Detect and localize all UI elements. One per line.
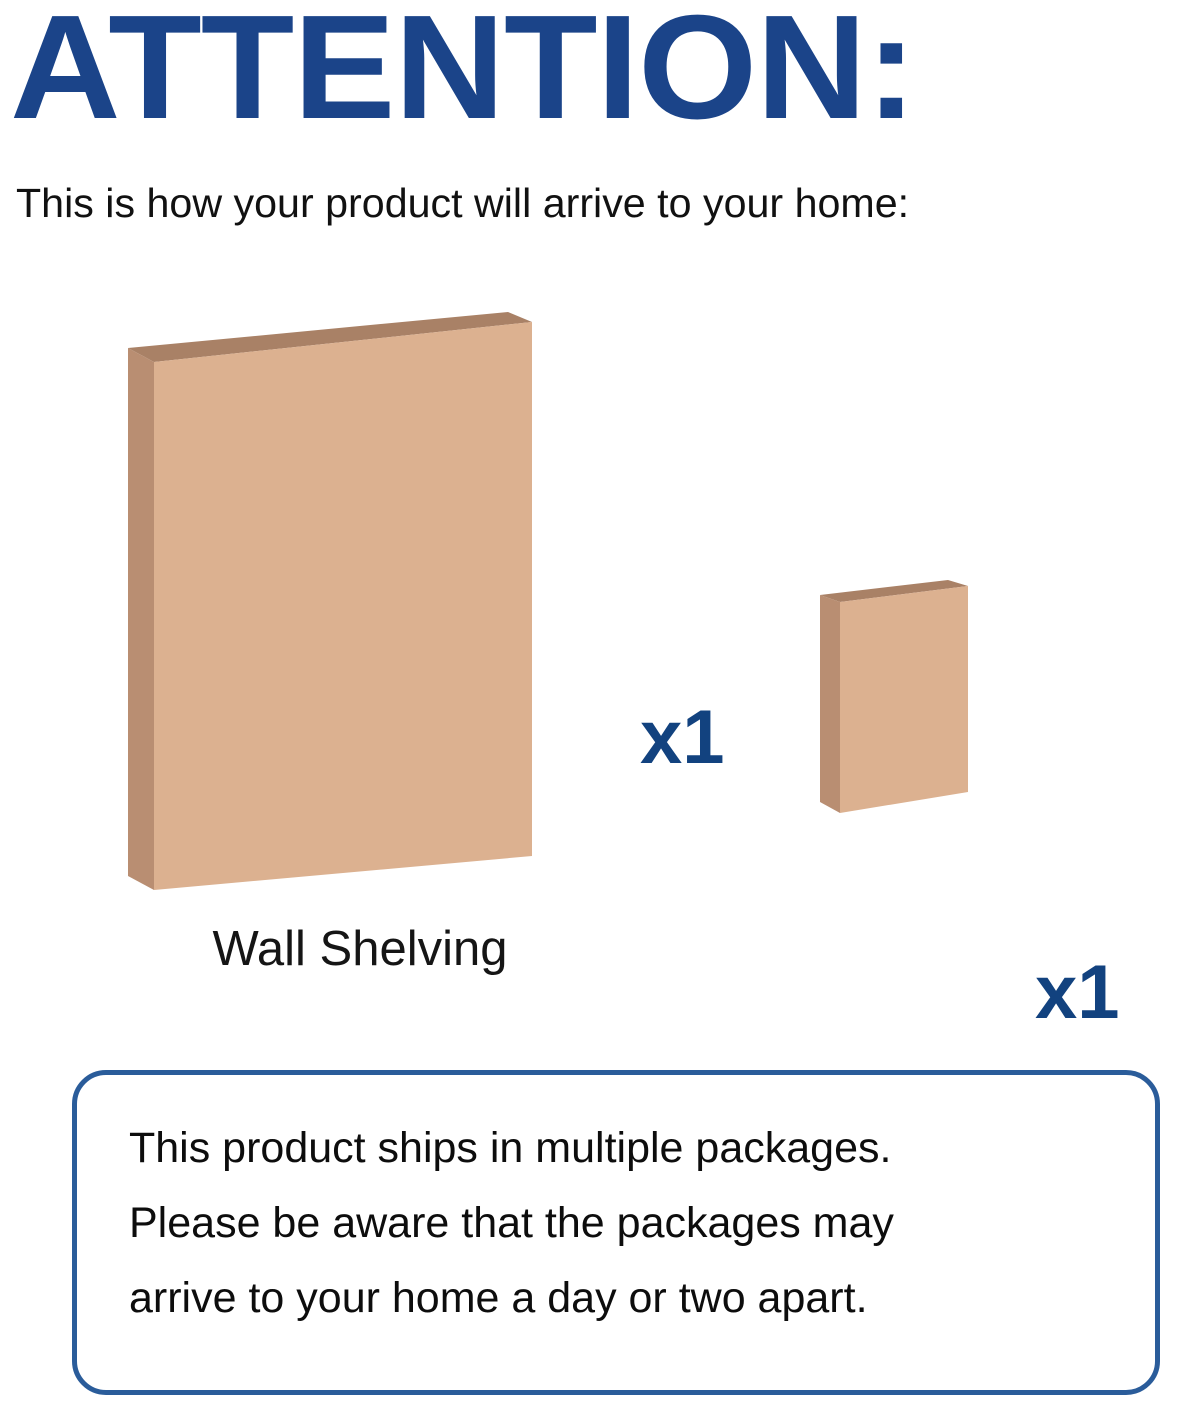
- notice-line-3: arrive to your home a day or two apart.: [129, 1261, 1125, 1336]
- package-item-wall-shelving: x1 Wall Shelving: [110, 300, 550, 900]
- shipping-notice-text: This product ships in multiple packages.…: [129, 1111, 1125, 1336]
- page-subtitle: This is how your product will arrive to …: [16, 182, 1179, 225]
- shipping-notice-box: This product ships in multiple packages.…: [72, 1070, 1160, 1395]
- package-quantity-hook: x1: [1035, 955, 1120, 1031]
- cardboard-box-icon: [800, 570, 980, 820]
- package-label-wall-shelving: Wall Shelving: [150, 925, 570, 974]
- page-title: ATTENTION:: [10, 0, 1179, 142]
- package-quantity-wall-shelving: x1: [640, 700, 725, 776]
- packages-illustration: x1 Wall Shelving x1 Hook: [0, 270, 1179, 1010]
- notice-line-1: This product ships in multiple packages.: [129, 1111, 1125, 1186]
- package-item-hook: x1 Hook: [800, 570, 980, 820]
- notice-line-2: Please be aware that the packages may: [129, 1186, 1125, 1261]
- cardboard-box-icon: [110, 300, 550, 900]
